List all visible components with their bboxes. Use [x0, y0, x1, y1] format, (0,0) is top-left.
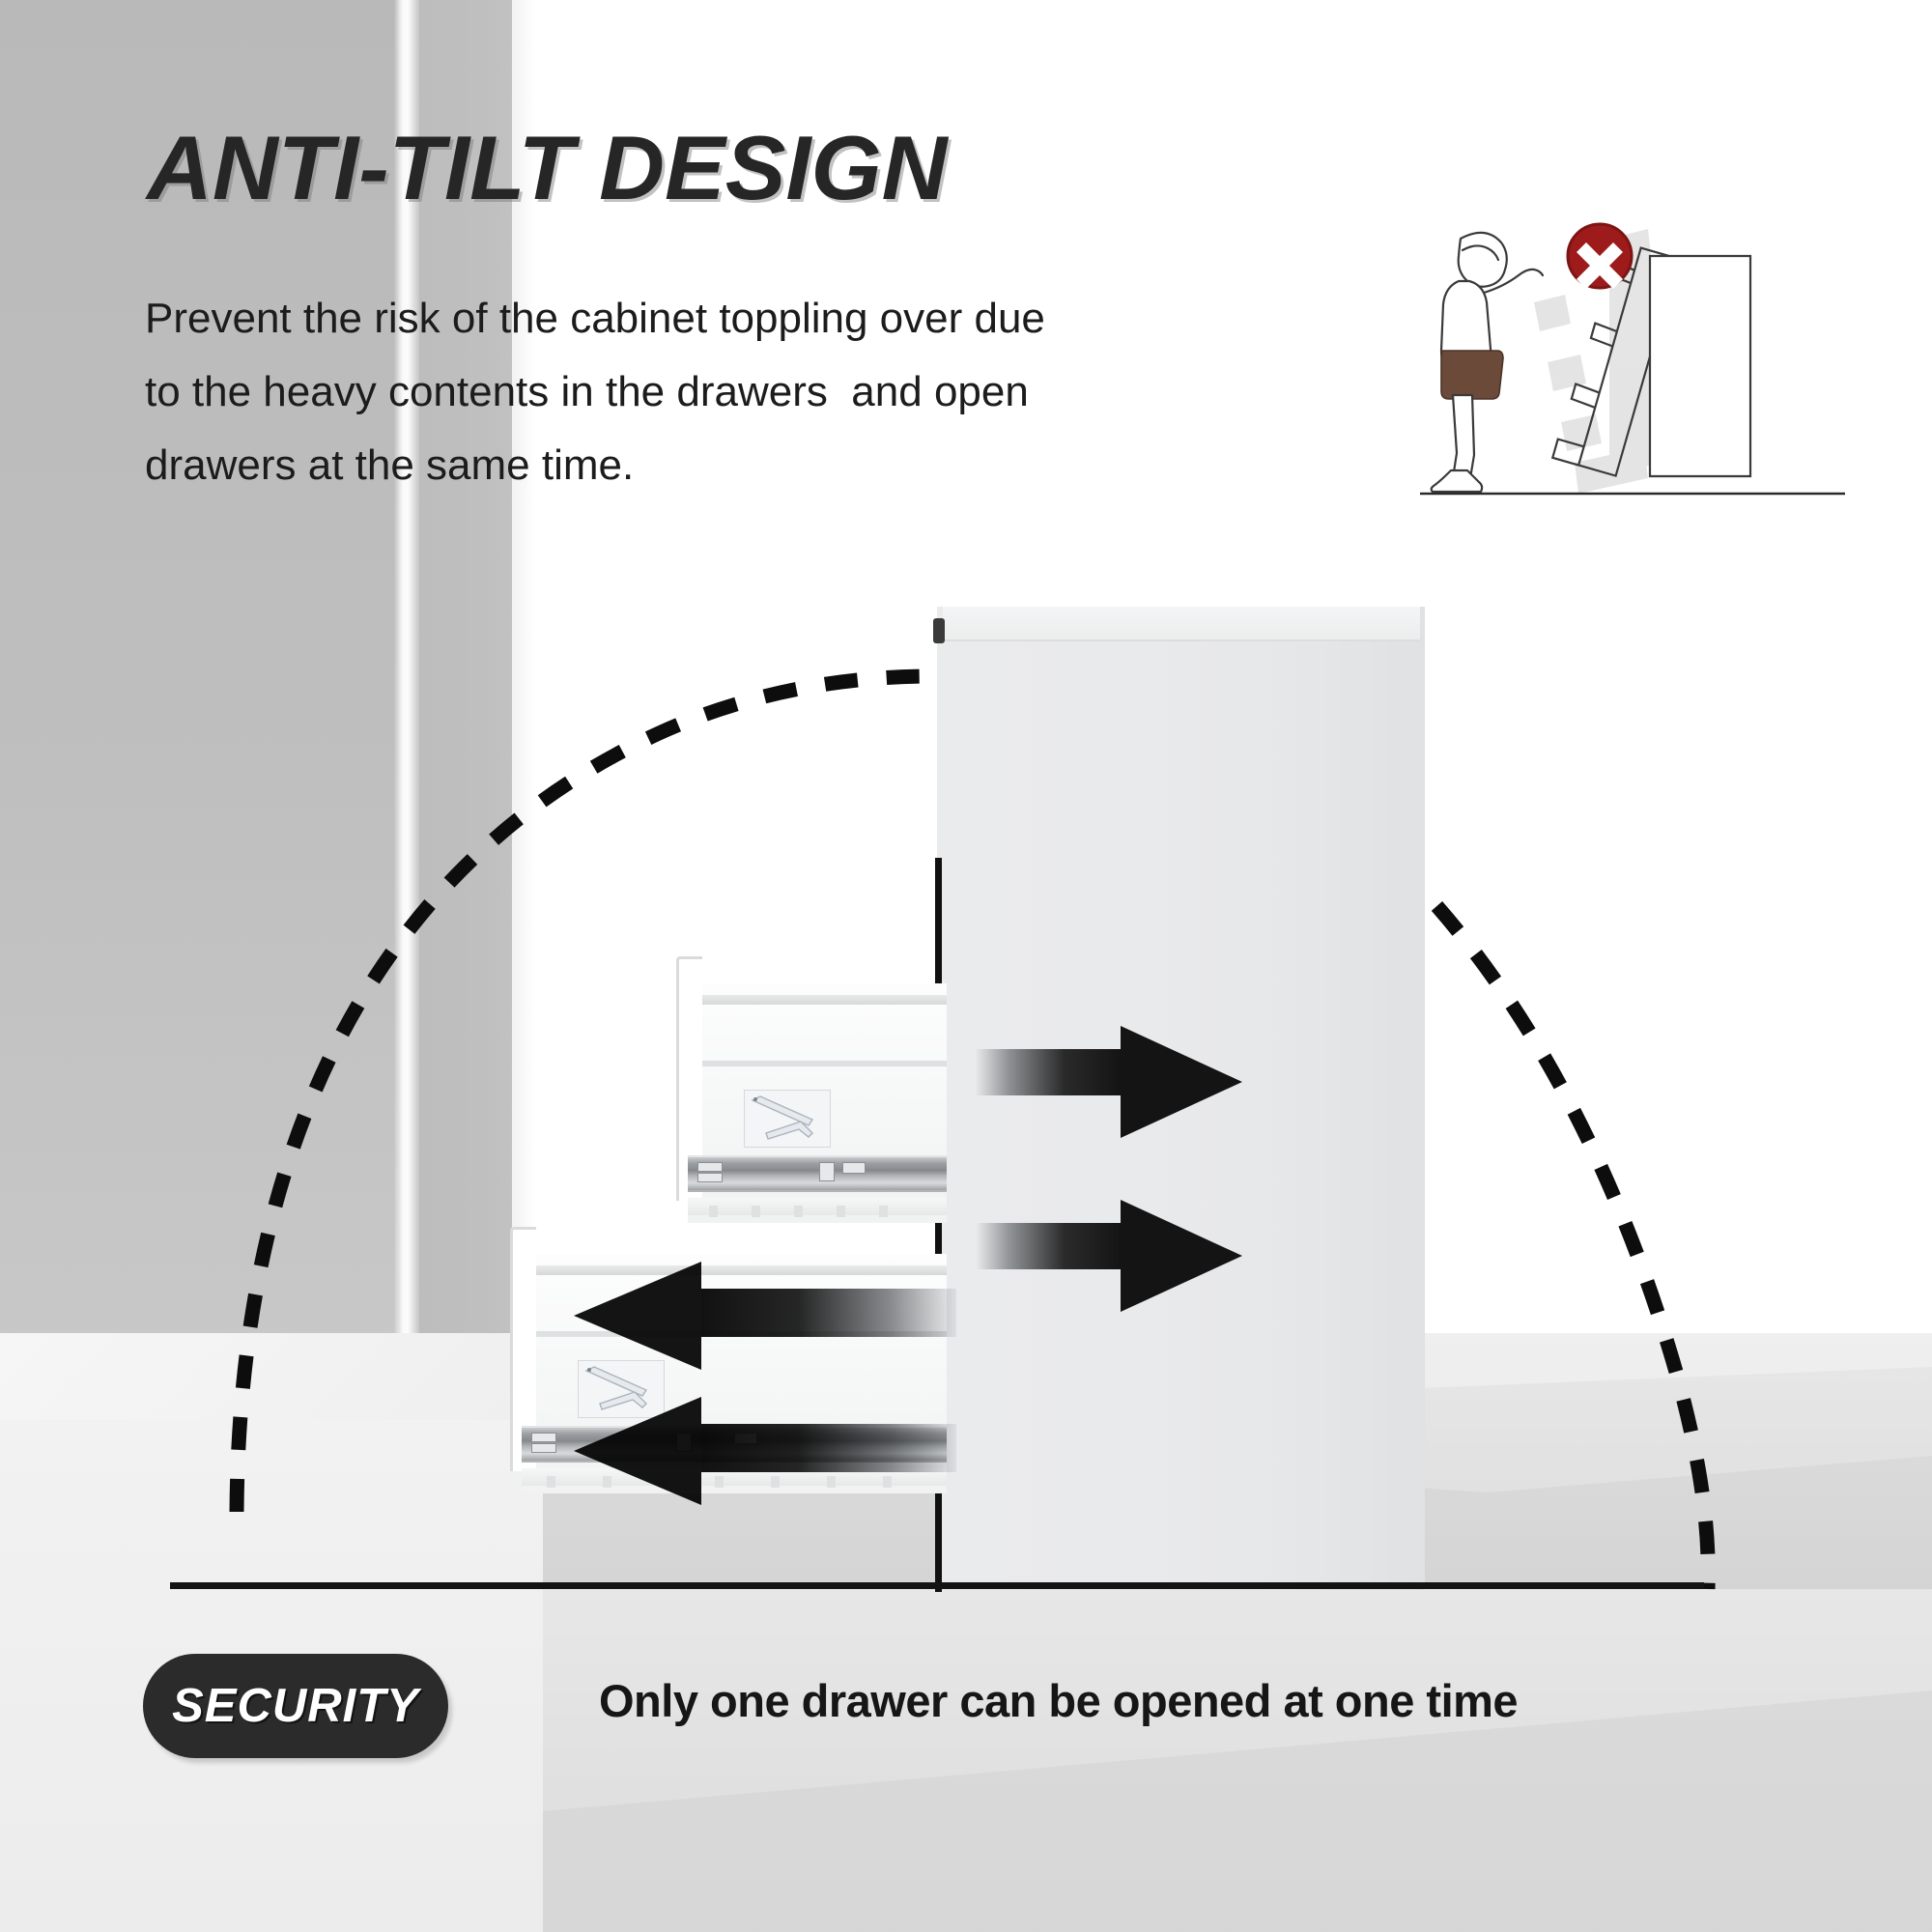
upper-lip-tooth-5 — [879, 1206, 888, 1217]
upper-lip-tooth-4 — [837, 1206, 845, 1217]
upper-rail-notch-c — [819, 1162, 835, 1181]
lower-lip-tooth-6 — [827, 1476, 836, 1488]
page-description: Prevent the risk of the cabinet toppling… — [145, 282, 1188, 502]
upper-rail-notch-a — [697, 1162, 723, 1172]
description-line-1: Prevent the risk of the cabinet toppling… — [145, 282, 1188, 355]
upper-drawer-bottom-lip — [688, 1198, 947, 1215]
lower-drawer-groove — [522, 1331, 947, 1337]
upper-rail-notch-b — [697, 1173, 723, 1182]
upper-rail-notch-d — [842, 1162, 866, 1174]
upper-drawer-top-rail — [688, 995, 947, 1005]
lower-lip-tooth-2 — [603, 1476, 611, 1488]
status-badge: SECURITY — [143, 1654, 448, 1758]
lower-lip-tooth-1 — [547, 1476, 555, 1488]
lower-rail-notch-d — [734, 1433, 757, 1444]
lower-lip-tooth-3 — [659, 1476, 668, 1488]
lower-rail-notch-c — [676, 1433, 692, 1452]
upright-cabinet-icon — [1650, 256, 1750, 476]
lower-lip-tooth-7 — [883, 1476, 892, 1488]
lower-lip-tooth-4 — [715, 1476, 724, 1488]
upper-lip-tooth-2 — [752, 1206, 760, 1217]
sticker-glyph-icon — [579, 1361, 662, 1415]
lower-lip-tooth-5 — [771, 1476, 780, 1488]
upper-drawer-anti-tilt-label-sticker — [744, 1090, 831, 1148]
page-title: ANTI-TILT DESIGN — [147, 116, 948, 220]
upper-drawer-groove — [688, 1061, 947, 1066]
lower-rail-notch-b — [531, 1443, 556, 1453]
lower-rail-notch-a — [531, 1433, 556, 1442]
warning-illustration — [1420, 217, 1845, 497]
person-legs-icon — [1432, 395, 1482, 492]
upper-lip-tooth-1 — [709, 1206, 718, 1217]
lower-drawer-slide-rail — [522, 1426, 947, 1463]
ground-baseline — [170, 1582, 1704, 1589]
infographic-canvas: ANTI-TILT DESIGN Prevent the risk of the… — [0, 0, 1932, 1932]
description-line-2: to the heavy contents in the drawers and… — [145, 355, 1188, 429]
description-line-3: drawers at the same time. — [145, 429, 1188, 502]
person-pulling-icon — [1441, 233, 1543, 364]
status-badge-label: SECURITY — [172, 1679, 419, 1733]
warning-illustration-svg — [1420, 217, 1845, 497]
person-shorts-icon — [1441, 351, 1503, 399]
footer-caption: Only one drawer can be opened at one tim… — [599, 1674, 1518, 1727]
lower-drawer-top-rail — [522, 1265, 947, 1275]
red-x-prohibition-icon — [1568, 224, 1632, 289]
upper-lip-tooth-3 — [794, 1206, 803, 1217]
file-cabinet-body — [937, 607, 1425, 1590]
lower-drawer-anti-tilt-label-sticker — [578, 1360, 665, 1418]
cabinet-top-cap — [943, 607, 1420, 641]
cabinet-top-hinge-nub — [933, 618, 945, 643]
upper-drawer-slide-rail — [688, 1155, 947, 1192]
sticker-glyph-icon — [745, 1091, 828, 1145]
